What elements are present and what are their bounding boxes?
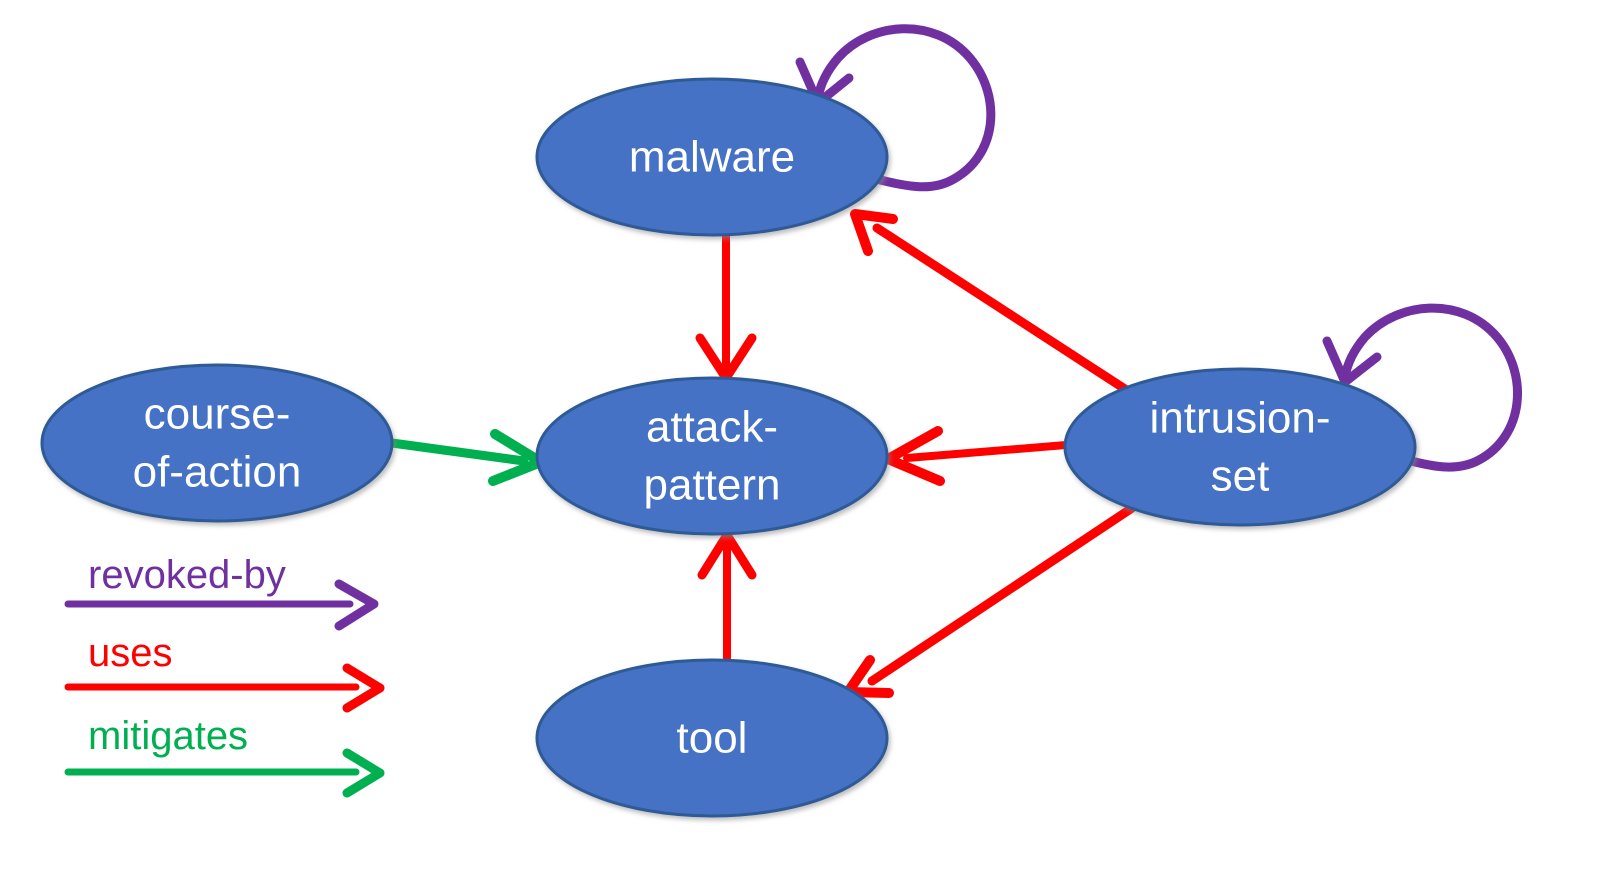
node-attack-pattern-label-line2: pattern	[644, 461, 781, 510]
node-intrusion-set-ellipse[interactable]	[1065, 369, 1415, 525]
relationship-graph: malware attack- pattern tool course- of-…	[0, 0, 1600, 883]
legend-item-revoked-by: revoked-by	[68, 553, 374, 626]
node-tool[interactable]: tool	[537, 660, 887, 816]
node-course-of-action-label-line1: course-	[144, 390, 291, 439]
node-course-of-action-ellipse[interactable]	[42, 365, 392, 521]
legend-label-revoked-by: revoked-by	[88, 553, 286, 597]
diagram-canvas: malware attack- pattern tool course- of-…	[0, 0, 1600, 883]
node-course-of-action[interactable]: course- of-action	[42, 365, 392, 521]
node-intrusion-set-label-line1: intrusion-	[1150, 394, 1331, 443]
edge-course-of-action-mitigates-attack-pattern	[392, 434, 541, 481]
node-malware[interactable]: malware	[537, 79, 887, 235]
edge-intrusion-set-uses-tool	[848, 508, 1132, 693]
edge-malware-uses-attack-pattern	[700, 233, 752, 378]
node-course-of-action-label-line2: of-action	[133, 448, 302, 497]
edge-intrusion-set-uses-malware	[855, 214, 1148, 404]
edge-intrusion-set-uses-attack-pattern	[888, 431, 1078, 481]
node-malware-label: malware	[629, 133, 795, 182]
legend: revoked-by uses mitigates	[68, 553, 380, 793]
node-intrusion-set[interactable]: intrusion- set	[1065, 369, 1415, 525]
legend-label-uses: uses	[88, 631, 173, 675]
node-intrusion-set-label-line2: set	[1211, 452, 1270, 501]
legend-item-uses: uses	[68, 631, 380, 708]
nodes-layer: malware attack- pattern tool course- of-…	[42, 79, 1415, 816]
legend-item-mitigates: mitigates	[68, 714, 380, 793]
node-attack-pattern-ellipse[interactable]	[537, 378, 887, 534]
node-tool-label: tool	[677, 714, 748, 763]
node-attack-pattern-label-line1: attack-	[646, 403, 778, 452]
legend-label-mitigates: mitigates	[88, 714, 248, 758]
node-attack-pattern[interactable]: attack- pattern	[537, 378, 887, 534]
